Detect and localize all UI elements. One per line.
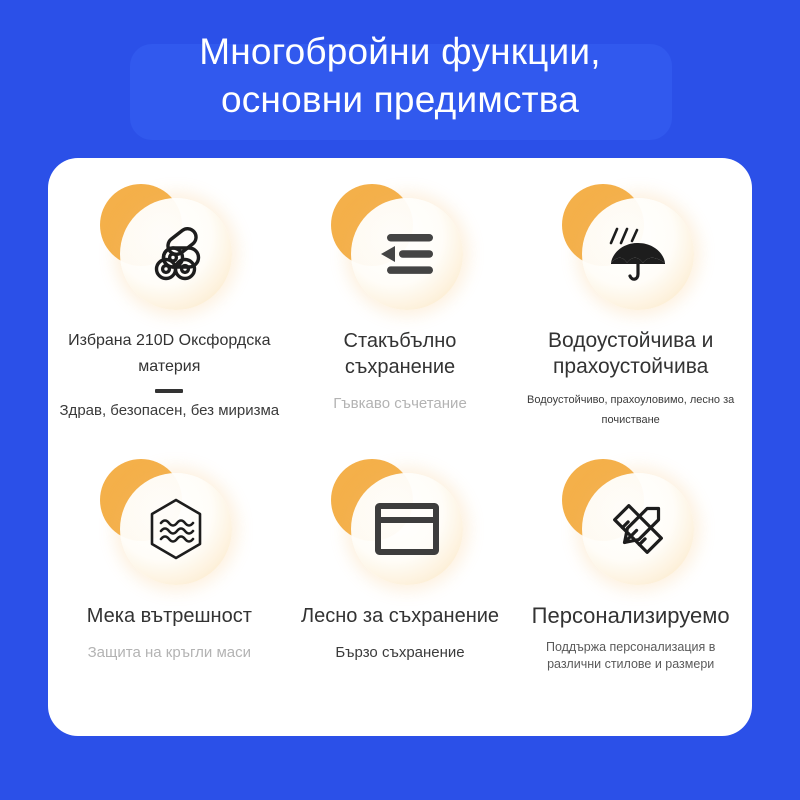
feature-title: Стакъбълно съхранение: [344, 328, 457, 380]
feature-card: Мека вътрешност Защита на кръгли маси: [54, 451, 285, 726]
feature-subtitle: Здрав, безопасен, без миризма: [60, 401, 280, 421]
feature-card: Избрана 210D Оксфордска материя Здрав, б…: [54, 176, 285, 451]
feature-subtitle: Гъвкаво съчетание: [333, 394, 467, 414]
feature-card: Стакъбълно съхранение Гъвкаво съчетание: [285, 176, 516, 451]
features-panel: Избрана 210D Оксфордска материя Здрав, б…: [48, 158, 752, 736]
page-header: Многобройни функции, основни предимства: [0, 0, 800, 158]
pen-ruler-cross-icon: [582, 473, 694, 585]
features-grid: Избрана 210D Оксфордска материя Здрав, б…: [48, 158, 752, 736]
feature-icon-badge: [556, 451, 706, 601]
feature-subtitle: Бързо съхранение: [335, 643, 464, 663]
feature-card: Водоустойчива и прахоустойчива Водоустой…: [515, 176, 746, 451]
folded-box-icon: [351, 473, 463, 585]
feature-title: Лесно за съхранение: [301, 603, 499, 629]
feature-title: Избрана 210D Оксфордска материя: [54, 328, 285, 380]
feature-icon-badge: [556, 176, 706, 326]
feature-divider: [155, 389, 183, 393]
umbrella-rain-icon: [582, 198, 694, 310]
feature-title: Персонализируемо: [532, 603, 730, 629]
feature-title: Мека вътрешност: [87, 603, 252, 629]
feature-card: Лесно за съхранение Бързо съхранение: [285, 451, 516, 726]
fabric-rolls-icon: [120, 198, 232, 310]
feature-icon-badge: [94, 176, 244, 326]
feature-icon-badge: [325, 176, 475, 326]
feature-subtitle: Водоустойчиво, прахоуловимо, лесно за по…: [515, 390, 746, 430]
collapse-arrow-lines-icon: [351, 198, 463, 310]
feature-icon-badge: [325, 451, 475, 601]
feature-card: Персонализируемо Поддържа персонализация…: [515, 451, 746, 726]
feature-subtitle: Поддържа персонализация в различни стило…: [546, 639, 715, 673]
feature-subtitle: Защита на кръгли маси: [88, 643, 251, 663]
feature-title: Водоустойчива и прахоустойчива: [548, 328, 713, 380]
page-title: Многобройни функции, основни предимства: [0, 28, 800, 124]
hexagon-waves-icon: [120, 473, 232, 585]
feature-icon-badge: [94, 451, 244, 601]
